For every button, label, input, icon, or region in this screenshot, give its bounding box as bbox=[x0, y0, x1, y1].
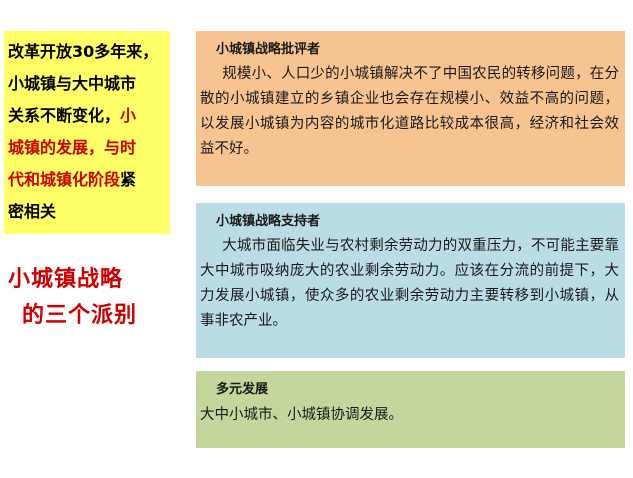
panel-diverse-body: 大中小城市、小城镇协调发展。 bbox=[200, 402, 619, 429]
section-heading-line-1: 小城镇战略 bbox=[8, 262, 188, 298]
yellow-callout-box: 改革开放30多年来， 小城镇与大中城市 关系不断变化，小 城镇的发展，与时 代和… bbox=[4, 31, 170, 234]
callout-line-6: 密相关 bbox=[8, 196, 166, 228]
left-column: 改革开放30多年来， 小城镇与大中城市 关系不断变化，小 城镇的发展，与时 代和… bbox=[0, 0, 196, 478]
callout-line-5-black: 紧 bbox=[120, 170, 136, 189]
panel-critic: 小城镇战略批评者 规模小、人口少的小城镇解决不了中国农民的转移问题，在分散的小城… bbox=[196, 31, 625, 186]
panel-diverse: 多元发展 大中小城市、小城镇协调发展。 bbox=[196, 371, 625, 448]
panel-diverse-title: 多元发展 bbox=[216, 379, 619, 401]
panel-diverse-body-text: 大中小城市、小城镇协调发展。 bbox=[200, 407, 403, 423]
slide-canvas: 改革开放30多年来， 小城镇与大中城市 关系不断变化，小 城镇的发展，与时 代和… bbox=[0, 0, 633, 478]
panel-supporter-body: 大城市面临失业与农村剩余劳动力的双重压力，不可能主要靠大中城市吸纳庞大的农业剩余… bbox=[200, 234, 619, 334]
callout-line-3: 关系不断变化，小 bbox=[8, 100, 166, 132]
callout-line-5-red: 代和城镇化阶段 bbox=[8, 170, 120, 189]
section-heading-line-2: 的三个派别 bbox=[8, 298, 188, 334]
callout-line-2: 小城镇与大中城市 bbox=[8, 68, 166, 100]
section-heading: 小城镇战略 的三个派别 bbox=[8, 262, 188, 334]
callout-line-3-red: 小 bbox=[120, 106, 136, 125]
panel-critic-body-text: 规模小、人口少的小城镇解决不了中国农民的转移问题，在分散的小城镇建立的乡镇企业也… bbox=[200, 66, 619, 157]
callout-line-3-black: 关系不断变化， bbox=[8, 106, 120, 125]
callout-line-1: 改革开放30多年来， bbox=[8, 36, 166, 68]
panel-supporter-body-text: 大城市面临失业与农村剩余劳动力的双重压力，不可能主要靠大中城市吸纳庞大的农业剩余… bbox=[200, 238, 619, 329]
callout-line-5: 代和城镇化阶段紧 bbox=[8, 164, 166, 196]
panel-critic-title: 小城镇战略批评者 bbox=[216, 39, 619, 61]
panel-supporter-title: 小城镇战略支持者 bbox=[216, 211, 619, 233]
panel-critic-body: 规模小、人口少的小城镇解决不了中国农民的转移问题，在分散的小城镇建立的乡镇企业也… bbox=[200, 62, 619, 162]
callout-line-4: 城镇的发展，与时 bbox=[8, 132, 166, 164]
panel-supporter: 小城镇战略支持者 大城市面临失业与农村剩余劳动力的双重压力，不可能主要靠大中城市… bbox=[196, 203, 625, 358]
